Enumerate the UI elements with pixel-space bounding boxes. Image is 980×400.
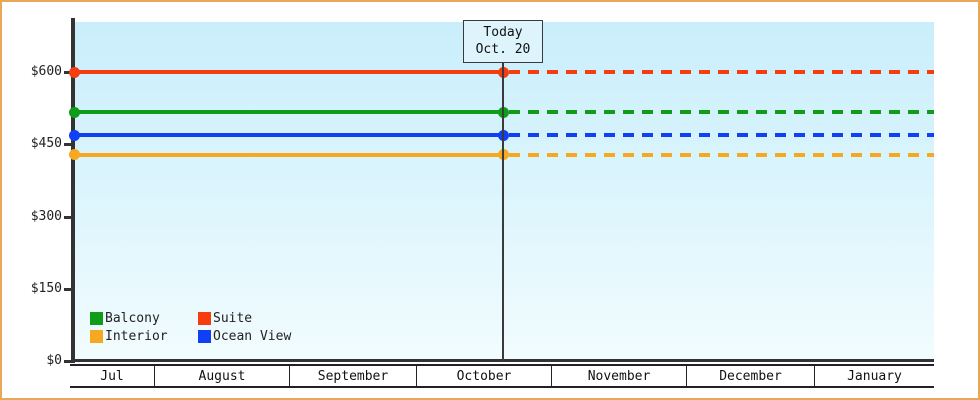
series-line-forecast-balcony (509, 110, 934, 114)
today-label: Today (474, 24, 532, 41)
today-annotation-box: Today Oct. 20 (463, 20, 543, 63)
y-axis-tick (64, 143, 73, 146)
legend-item-interior[interactable]: Interior (90, 330, 190, 343)
y-axis-tick-label-wrap: $450 (2, 137, 62, 150)
price-trend-chart: $600$450$300$150$0 Today Oct. 20 Balcony… (0, 0, 980, 400)
month-cell-december[interactable]: December (687, 366, 815, 386)
series-marker-start-suite (69, 67, 80, 78)
month-cell-august[interactable]: August (155, 366, 290, 386)
y-axis-tick-label-wrap: $600 (2, 65, 62, 78)
y-axis-tick-label-wrap: $0 (2, 354, 62, 367)
y-axis-tick-label: $600 (2, 65, 62, 78)
legend-item-ocean-view[interactable]: Ocean View (198, 330, 291, 343)
chart-legend: BalconySuiteInteriorOcean View (90, 312, 291, 343)
series-line-actual-balcony (75, 110, 503, 114)
month-cell-november[interactable]: November (552, 366, 687, 386)
legend-item-balcony[interactable]: Balcony (90, 312, 190, 325)
today-marker-line (502, 61, 504, 361)
legend-item-label: Suite (213, 312, 252, 325)
y-axis-tick-label: $300 (2, 210, 62, 223)
y-axis-tick (64, 216, 73, 219)
series-line-forecast-interior (509, 153, 934, 157)
y-axis-tick (64, 288, 73, 291)
y-axis-tick-label-wrap: $150 (2, 282, 62, 295)
y-axis-tick-label: $150 (2, 282, 62, 295)
legend-swatch-icon (198, 312, 211, 325)
y-axis-tick-label-wrap: $300 (2, 210, 62, 223)
legend-item-suite[interactable]: Suite (198, 312, 291, 325)
legend-item-label: Balcony (105, 312, 160, 325)
month-axis: JulAugustSeptemberOctoberNovemberDecembe… (70, 364, 934, 388)
month-cell-january[interactable]: January (815, 366, 934, 386)
legend-item-label: Interior (105, 330, 168, 343)
month-cell-september[interactable]: September (290, 366, 417, 386)
series-line-actual-ocean-view (75, 133, 503, 137)
series-line-forecast-ocean-view (509, 133, 934, 137)
series-line-actual-suite (75, 70, 503, 74)
series-line-actual-interior (75, 153, 503, 157)
y-axis-tick (64, 360, 73, 363)
series-marker-start-balcony (69, 107, 80, 118)
month-cell-jul[interactable]: Jul (70, 366, 155, 386)
y-axis-tick-label: $0 (2, 354, 62, 367)
series-marker-start-ocean-view (69, 130, 80, 141)
series-line-forecast-suite (509, 70, 934, 74)
legend-swatch-icon (90, 330, 103, 343)
today-date: Oct. 20 (474, 41, 532, 58)
legend-item-label: Ocean View (213, 330, 291, 343)
legend-swatch-icon (90, 312, 103, 325)
month-cell-october[interactable]: October (417, 366, 552, 386)
y-axis-tick-label: $450 (2, 137, 62, 150)
legend-swatch-icon (198, 330, 211, 343)
